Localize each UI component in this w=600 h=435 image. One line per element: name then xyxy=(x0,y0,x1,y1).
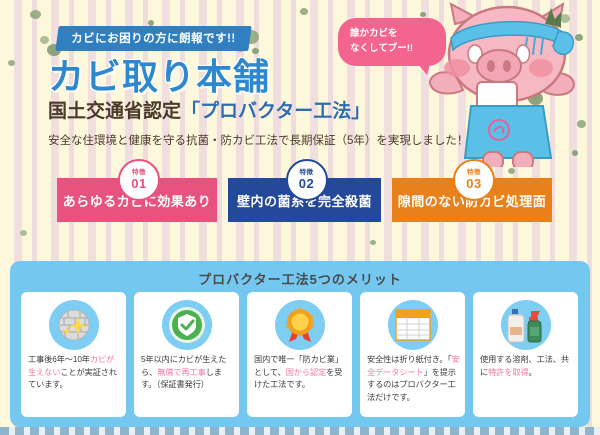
feature-badge-number-1: 01 xyxy=(131,177,146,190)
page-title: カビ取り本舗 xyxy=(48,48,270,100)
subtitle-prefix: 国土交通省認定 xyxy=(48,101,181,122)
feature-badge-number-2: 02 xyxy=(299,177,314,190)
feature-badge-3: 特徴 03 xyxy=(453,159,495,201)
merits-card-list: 工事後6年～10年カビが生えないことが実証されています。 5年以内にカビが生えた… xyxy=(21,292,578,417)
speech-bubble-line-1: 誰かカビを xyxy=(350,27,436,42)
merits-panel: プロバクター工法5つのメリット xyxy=(10,261,590,427)
feature-badge-2: 特徴 02 xyxy=(286,159,328,201)
merit-text: 使用する溶剤、工法、共に特許を取得。 xyxy=(480,354,573,379)
merit-text-part: 安全性は折り紙付き。「 xyxy=(367,355,451,364)
promo-ribbon-text: カビにお困りの方に朗報です!! xyxy=(71,30,236,46)
mold-spot xyxy=(20,230,27,236)
page-root: カビにお困りの方に朗報です!! カビ取り本舗 国土交通省認定「プロバクター工法」… xyxy=(0,0,600,435)
merit-text-part: 。 xyxy=(529,368,537,377)
brick-wall-sparkle-icon xyxy=(49,300,99,350)
merit-text-highlight: 無償で再工事 xyxy=(157,368,206,377)
shield-check-icon xyxy=(162,300,212,350)
merit-card[interactable]: 使用する溶剤、工法、共に特許を取得。 xyxy=(473,292,578,417)
feature-badge-number-3: 03 xyxy=(466,177,481,190)
data-sheet-icon xyxy=(388,300,438,350)
merit-text: 5年以内にカビが生えたら、無償で再工事します。（保証書発行） xyxy=(141,354,234,392)
mold-spot xyxy=(300,8,308,15)
merit-card[interactable]: 国内で唯一「防カビ業」として、国から認定を受けた工法です。 xyxy=(247,292,352,417)
mold-spot xyxy=(40,36,49,44)
feature-box-3[interactable]: 特徴 03 隙間のない防カビ処理面 xyxy=(392,178,552,222)
feature-box-2[interactable]: 特徴 02 壁内の菌糸を完全殺菌 xyxy=(228,178,381,222)
spray-bottle-icon xyxy=(501,300,551,350)
pig-mascot xyxy=(425,2,595,167)
merit-text-highlight: 国から認定 xyxy=(286,368,326,377)
merit-card[interactable]: 安全性は折り紙付き。「安全データシート」を提示するのはプロバクター工法だけです。 xyxy=(360,292,465,417)
award-medal-icon xyxy=(275,300,325,350)
merit-text: 国内で唯一「防カビ業」として、国から認定を受けた工法です。 xyxy=(254,354,347,392)
merit-text-highlight: 特許を取得 xyxy=(488,368,528,377)
merits-title: プロバクター工法5つのメリット xyxy=(10,269,590,288)
merit-card[interactable]: 5年以内にカビが生えたら、無償で再工事します。（保証書発行） xyxy=(134,292,239,417)
mold-spot xyxy=(8,60,15,66)
subtitle: 国土交通省認定「プロバクター工法」 xyxy=(48,96,370,123)
merit-card[interactable]: 工事後6年～10年カビが生えないことが実証されています。 xyxy=(21,292,126,417)
mold-spot xyxy=(508,168,515,174)
feature-badge-1: 特徴 01 xyxy=(118,159,160,201)
speech-bubble-line-2: なくしてブー!! xyxy=(350,42,436,57)
mold-spot xyxy=(30,10,41,19)
mold-spot xyxy=(370,240,376,245)
lead-text: 安全な住環境と健康を守る抗菌・防カビ工法で長期保証（5年）を実現しました！ xyxy=(48,132,468,148)
merit-text-part: 工事後6年～10年 xyxy=(28,355,90,364)
feature-box-1[interactable]: 特徴 01 あらゆるカビに効果あり xyxy=(57,178,217,222)
subtitle-highlight: 「プロバクター工法」 xyxy=(181,101,370,122)
bottom-strip xyxy=(0,427,600,435)
merit-text: 安全性は折り紙付き。「安全データシート」を提示するのはプロバクター工法だけです。 xyxy=(367,354,460,405)
merit-text: 工事後6年～10年カビが生えないことが実証されています。 xyxy=(28,354,121,392)
